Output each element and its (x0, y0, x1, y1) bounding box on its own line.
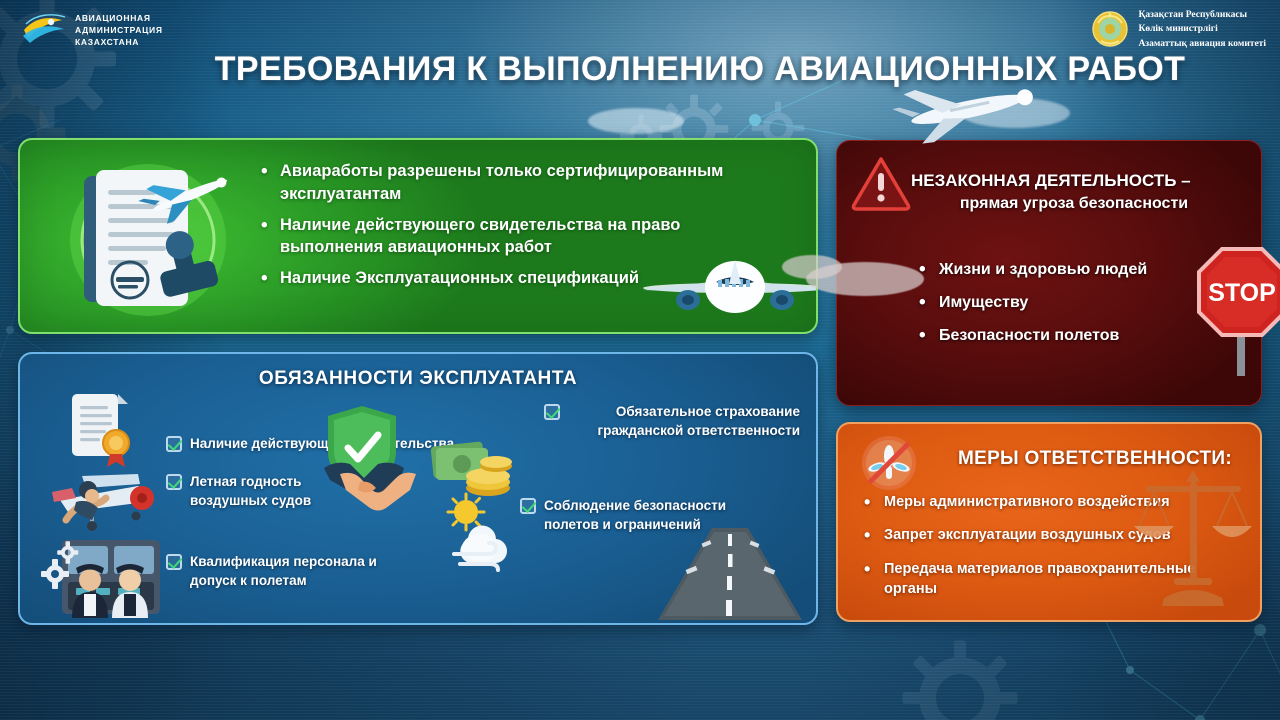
page-title: ТРЕБОВАНИЯ К ВЫПОЛНЕНИЮ АВИАЦИОННЫХ РАБО… (0, 50, 1280, 89)
red-panel-heading: НЕЗАКОННАЯ ДЕЯТЕЛЬНОСТЬ – (911, 171, 1191, 190)
orange-liability-panel: МЕРЫ ОТВЕТСТВЕННОСТИ: Меры административ… (836, 422, 1262, 622)
kazakhstan-aviation-bird-logo (22, 10, 66, 50)
blue-check-label: Обязательное страхование гражданской отв… (568, 402, 800, 440)
stop-sign-icon: STOP (1196, 246, 1280, 376)
blue-check-item-5: Квалификация персонала и допуск к полета… (166, 552, 396, 590)
stop-sign-label: STOP (1208, 279, 1276, 307)
no-drone-prohibition-icon (860, 434, 918, 492)
logo-right-line1: Қазақстан Республикасы (1138, 8, 1266, 22)
blue-check-item-2: Обязательное страхование гражданской отв… (544, 402, 800, 440)
logo-right-text: Қазақстан Республикасы Көлік министрлігі… (1138, 8, 1266, 51)
airliner-front-icon (640, 240, 818, 334)
certificate-with-seal-icon (62, 390, 136, 468)
logo-right: Қазақстан Республикасы Көлік министрлігі… (1090, 8, 1266, 51)
blue-operator-duties-panel: ОБЯЗАННОСТИ ЭКСПЛУАТАНТА Наличие действу… (18, 352, 818, 625)
red-panel-subheading: прямая угроза безопасности (911, 193, 1243, 216)
weather-sun-cloud-wind-icon (440, 492, 530, 572)
logo-left: АВИАЦИОННАЯ АДМИНИСТРАЦИЯ КАЗАХСТАНА (22, 10, 163, 50)
cloud-decoration-4 (782, 255, 842, 279)
checkbox-icon (166, 554, 182, 570)
green-requirements-panel: Авиаработы разрешены только сертифициров… (18, 138, 818, 334)
checkbox-icon (520, 498, 536, 514)
checkbox-icon (166, 474, 182, 490)
red-bullet-list: Жизни и здоровью людей Имуществу Безопас… (917, 261, 1147, 360)
runway-icon (650, 524, 810, 624)
red-bullet-item: Безопасности полетов (917, 327, 1147, 345)
justice-scales-icon (1128, 460, 1258, 610)
logo-right-line3: Азаматтық авиация комитеті (1138, 37, 1266, 51)
certificate-stamp-airplane-icon (48, 148, 248, 328)
logo-right-line2: Көлік министрлігі (1138, 22, 1266, 36)
logo-left-text: АВИАЦИОННАЯ АДМИНИСТРАЦИЯ КАЗАХСТАНА (75, 12, 163, 49)
logo-left-line3: КАЗАХСТАНА (75, 36, 163, 48)
blue-panel-title: ОБЯЗАННОСТИ ЭКСПЛУАТАНТА (20, 368, 816, 390)
blue-check-label: Квалификация персонала и допуск к полета… (190, 552, 396, 590)
warning-triangle-icon (851, 155, 911, 211)
red-panel-heading-block: НЕЗАКОННАЯ ДЕЯТЕЛЬНОСТЬ – прямая угроза … (911, 169, 1243, 216)
green-bullet-item: Авиаработы разрешены только сертифициров… (260, 160, 746, 206)
logo-left-line1: АВИАЦИОННАЯ (75, 12, 163, 24)
checkbox-icon (544, 404, 560, 420)
red-bullet-item: Жизни и здоровью людей (917, 261, 1147, 279)
red-bullet-item: Имуществу (917, 294, 1147, 312)
pilots-cockpit-gears-icon (38, 532, 164, 618)
checkbox-icon (166, 436, 182, 452)
mechanic-small-plane-icon (42, 458, 162, 536)
kazakhstan-state-emblem (1090, 9, 1130, 49)
logo-left-line2: АДМИНИСТРАЦИЯ (75, 24, 163, 36)
